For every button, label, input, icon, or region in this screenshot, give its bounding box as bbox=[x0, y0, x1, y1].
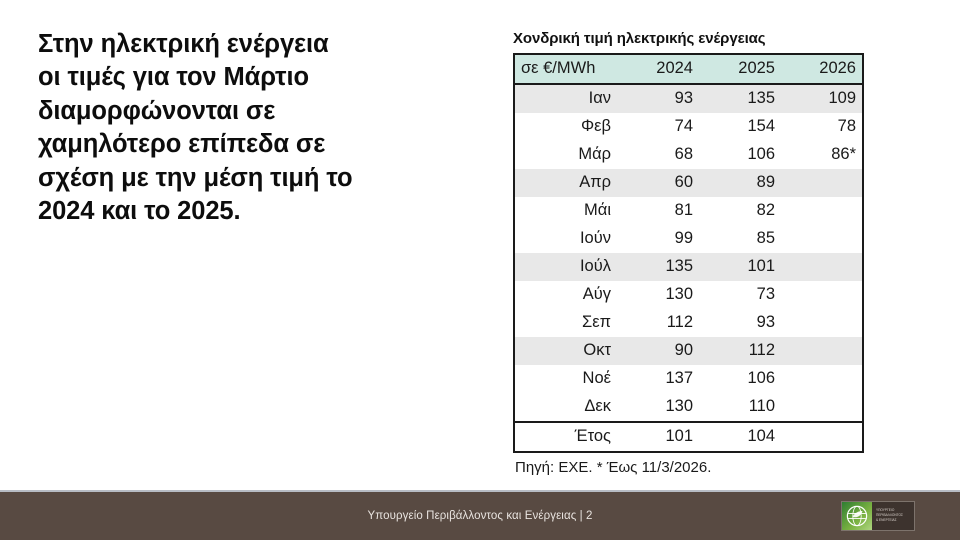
cell-2026 bbox=[781, 169, 863, 197]
column-header-unit: σε €/MWh bbox=[514, 54, 617, 84]
cell-2025: 106 bbox=[699, 141, 781, 169]
table-row: Απρ6089 bbox=[514, 169, 863, 197]
logo-word-line: & ΕΝΕΡΓΕΙΑΣ bbox=[876, 519, 914, 523]
cell-2025: 73 bbox=[699, 281, 781, 309]
table-row: Φεβ7415478 bbox=[514, 113, 863, 141]
cell-2026 bbox=[781, 281, 863, 309]
table-row: Μάρ6810686* bbox=[514, 141, 863, 169]
cell-2026 bbox=[781, 225, 863, 253]
row-label: Φεβ bbox=[514, 113, 617, 141]
table-head: σε €/MWh 2024 2025 2026 bbox=[514, 54, 863, 84]
cell-2025: 101 bbox=[699, 253, 781, 281]
row-label: Ιούν bbox=[514, 225, 617, 253]
footer-bar: Υπουργείο Περιβάλλοντος και Ενέργειας | … bbox=[0, 492, 960, 540]
row-label: Οκτ bbox=[514, 337, 617, 365]
cell-2025: 93 bbox=[699, 309, 781, 337]
cell-2024: 137 bbox=[617, 365, 699, 393]
table-total-row: Έτος101104 bbox=[514, 422, 863, 452]
row-label: Μάι bbox=[514, 197, 617, 225]
total-cell-2025: 104 bbox=[699, 422, 781, 452]
cell-2026: 109 bbox=[781, 84, 863, 113]
table-body: Ιαν93135109Φεβ7415478Μάρ6810686*Απρ6089Μ… bbox=[514, 84, 863, 452]
cell-2024: 130 bbox=[617, 393, 699, 422]
cell-2025: 112 bbox=[699, 337, 781, 365]
row-label: Μάρ bbox=[514, 141, 617, 169]
table-row: Νοέ137106 bbox=[514, 365, 863, 393]
table-row: Ιούλ135101 bbox=[514, 253, 863, 281]
row-label: Νοέ bbox=[514, 365, 617, 393]
cell-2024: 112 bbox=[617, 309, 699, 337]
table-row: Σεπ11293 bbox=[514, 309, 863, 337]
globe-leaf-icon bbox=[842, 502, 872, 530]
cell-2025: 106 bbox=[699, 365, 781, 393]
row-label: Σεπ bbox=[514, 309, 617, 337]
cell-2025: 135 bbox=[699, 84, 781, 113]
table-row: Μάι8182 bbox=[514, 197, 863, 225]
total-cell-2026 bbox=[781, 422, 863, 452]
cell-2024: 60 bbox=[617, 169, 699, 197]
slide-headline: Στην ηλεκτρική ενέργεια οι τιμές για τον… bbox=[38, 28, 438, 228]
cell-2025: 110 bbox=[699, 393, 781, 422]
cell-2024: 93 bbox=[617, 84, 699, 113]
table-row: Οκτ90112 bbox=[514, 337, 863, 365]
cell-2024: 81 bbox=[617, 197, 699, 225]
table-row: Ιούν9985 bbox=[514, 225, 863, 253]
cell-2024: 68 bbox=[617, 141, 699, 169]
cell-2024: 130 bbox=[617, 281, 699, 309]
cell-2026 bbox=[781, 309, 863, 337]
column-header-2026: 2026 bbox=[781, 54, 863, 84]
column-header-2025: 2025 bbox=[699, 54, 781, 84]
source-note: Πηγή: ΕΧΕ. * Έως 11/3/2026. bbox=[515, 459, 885, 476]
column-header-2024: 2024 bbox=[617, 54, 699, 84]
logo-wordmark: ΥΠΟΥΡΓΕΙΟΠΕΡΙΒΑΛΛΟΝΤΟΣ& ΕΝΕΡΓΕΙΑΣ bbox=[872, 502, 914, 530]
wholesale-price-table: σε €/MWh 2024 2025 2026 Ιαν93135109Φεβ74… bbox=[513, 53, 864, 453]
row-label: Ιούλ bbox=[514, 253, 617, 281]
cell-2025: 85 bbox=[699, 225, 781, 253]
cell-2026: 78 bbox=[781, 113, 863, 141]
cell-2024: 99 bbox=[617, 225, 699, 253]
total-cell-2024: 101 bbox=[617, 422, 699, 452]
cell-2025: 82 bbox=[699, 197, 781, 225]
cell-2024: 90 bbox=[617, 337, 699, 365]
row-label: Αύγ bbox=[514, 281, 617, 309]
cell-2024: 135 bbox=[617, 253, 699, 281]
cell-2026 bbox=[781, 197, 863, 225]
cell-2025: 89 bbox=[699, 169, 781, 197]
price-table-block: Χονδρική τιμή ηλεκτρικής ενέργειας σε €/… bbox=[505, 30, 885, 476]
row-label: Απρ bbox=[514, 169, 617, 197]
total-row-label: Έτος bbox=[514, 422, 617, 452]
footer-text: Υπουργείο Περιβάλλοντος και Ενέργειας | … bbox=[0, 492, 960, 540]
cell-2026 bbox=[781, 365, 863, 393]
cell-2025: 154 bbox=[699, 113, 781, 141]
cell-2026 bbox=[781, 337, 863, 365]
table-header-row: σε €/MWh 2024 2025 2026 bbox=[514, 54, 863, 84]
table-row: Ιαν93135109 bbox=[514, 84, 863, 113]
cell-2024: 74 bbox=[617, 113, 699, 141]
table-title: Χονδρική τιμή ηλεκτρικής ενέργειας bbox=[513, 30, 885, 47]
cell-2026: 86* bbox=[781, 141, 863, 169]
cell-2026 bbox=[781, 253, 863, 281]
row-label: Δεκ bbox=[514, 393, 617, 422]
table-row: Αύγ13073 bbox=[514, 281, 863, 309]
cell-2026 bbox=[781, 393, 863, 422]
ministry-logo: ΥΠΟΥΡΓΕΙΟΠΕΡΙΒΑΛΛΟΝΤΟΣ& ΕΝΕΡΓΕΙΑΣ bbox=[841, 501, 915, 531]
table-row: Δεκ130110 bbox=[514, 393, 863, 422]
row-label: Ιαν bbox=[514, 84, 617, 113]
slide-canvas: Στην ηλεκτρική ενέργεια οι τιμές για τον… bbox=[0, 0, 960, 540]
